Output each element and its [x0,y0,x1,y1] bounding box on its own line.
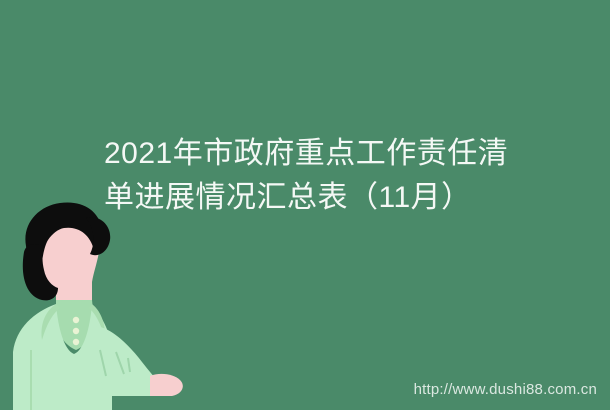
collar-button [73,317,79,323]
arm-group [96,326,183,396]
collar-button [73,328,79,334]
head-group [23,202,110,308]
watermark-url: http://www.dushi88.com.cn [414,381,597,398]
image-canvas: 2021年市政府重点工作责任清 单进展情况汇总表（11月） http://www… [0,0,610,410]
page-title: 2021年市政府重点工作责任清 单进展情况汇总表（11月） [104,132,556,220]
title-line-2: 单进展情况汇总表（11月） [104,176,556,220]
person-pointing-illustration [0,200,230,410]
hand-shape [150,374,183,396]
collar-button [73,339,79,345]
title-line-1: 2021年市政府重点工作责任清 [104,132,556,176]
